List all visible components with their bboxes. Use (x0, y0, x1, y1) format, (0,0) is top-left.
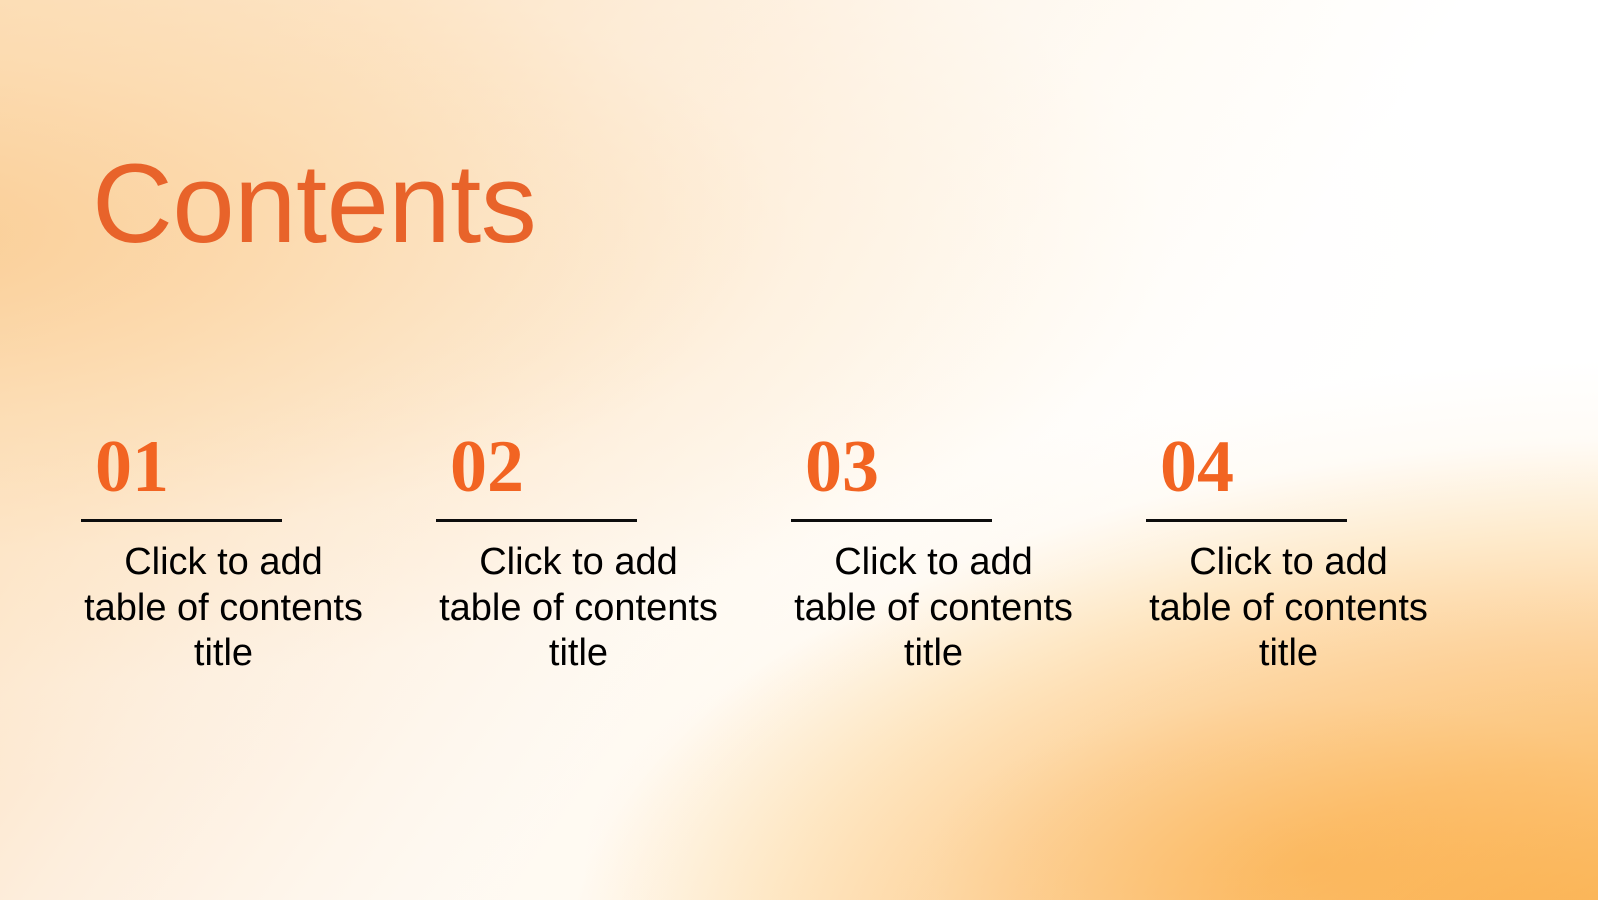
contents-number-02: 02 (450, 432, 524, 503)
contents-number-04: 04 (1160, 432, 1234, 503)
contents-number-03: 03 (805, 432, 879, 503)
contents-item-03[interactable]: 03 Click to add table of contents title (791, 432, 1146, 677)
contents-text-01[interactable]: Click to add table of contents title (81, 540, 366, 677)
contents-number-01: 01 (95, 432, 169, 503)
contents-text-02[interactable]: Click to add table of contents title (436, 540, 721, 677)
contents-divider-02 (436, 519, 637, 522)
contents-text-03[interactable]: Click to add table of contents title (791, 540, 1076, 677)
contents-text-04[interactable]: Click to add table of contents title (1146, 540, 1431, 677)
contents-item-02[interactable]: 02 Click to add table of contents title (436, 432, 791, 677)
contents-item-01[interactable]: 01 Click to add table of contents title (81, 432, 436, 677)
contents-divider-03 (791, 519, 992, 522)
contents-slide: Contents 01 Click to add table of conten… (0, 0, 1598, 900)
contents-divider-04 (1146, 519, 1347, 522)
page-title: Contents (92, 148, 536, 260)
contents-columns: 01 Click to add table of contents title … (81, 432, 1501, 677)
contents-item-04[interactable]: 04 Click to add table of contents title (1146, 432, 1501, 677)
contents-divider-01 (81, 519, 282, 522)
